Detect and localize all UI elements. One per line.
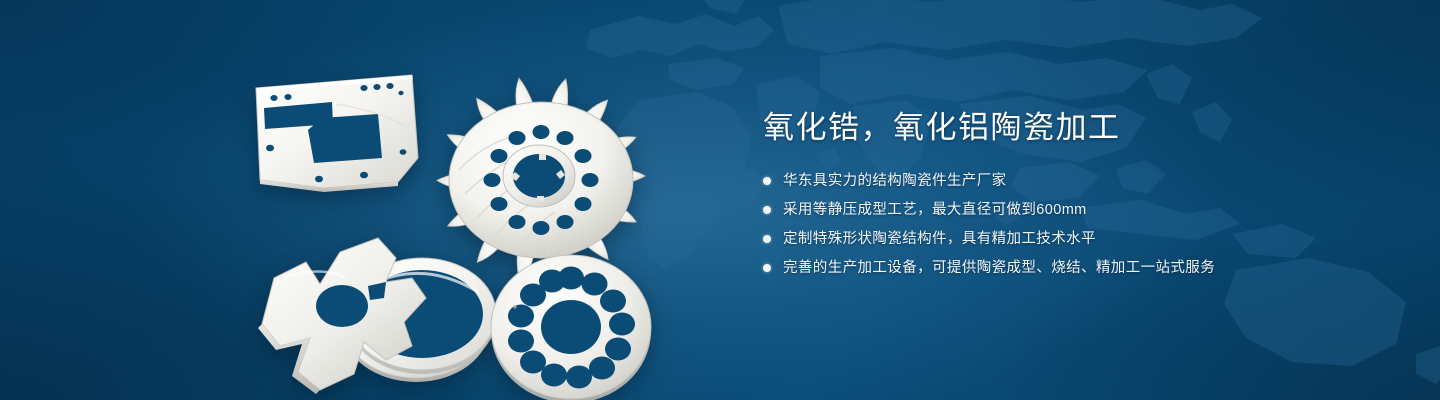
feature-item: 完善的生产加工设备，可提供陶瓷成型、烧结、精加工一站式服务 bbox=[763, 257, 1323, 279]
feature-text: 定制特殊形状陶瓷结构件，具有精加工技术水平 bbox=[783, 228, 1096, 250]
feature-text: 采用等静压成型工艺，最大直径可做到600mm bbox=[783, 199, 1087, 221]
bullet-dot-icon bbox=[763, 177, 771, 185]
bullet-dot-icon bbox=[763, 264, 771, 272]
bullet-dot-icon bbox=[763, 206, 771, 214]
banner-copy: 氧化锆，氧化铝陶瓷加工 华东具实力的结构陶瓷件生产厂家 采用等静压成型工艺，最大… bbox=[763, 108, 1323, 279]
feature-text: 完善的生产加工设备，可提供陶瓷成型、烧结、精加工一站式服务 bbox=[783, 257, 1215, 279]
feature-item: 华东具实力的结构陶瓷件生产厂家 bbox=[763, 170, 1323, 192]
feature-item: 定制特殊形状陶瓷结构件，具有精加工技术水平 bbox=[763, 228, 1323, 250]
hero-banner: 氧化锆，氧化铝陶瓷加工 华东具实力的结构陶瓷件生产厂家 采用等静压成型工艺，最大… bbox=[0, 0, 1440, 400]
product-ceramic-impeller bbox=[437, 76, 645, 283]
bullet-dot-icon bbox=[763, 235, 771, 243]
banner-headline: 氧化锆，氧化铝陶瓷加工 bbox=[763, 108, 1323, 148]
product-ceramic-hole-disc bbox=[491, 255, 651, 400]
product-image-cluster bbox=[236, 30, 736, 400]
feature-text: 华东具实力的结构陶瓷件生产厂家 bbox=[783, 170, 1007, 192]
banner-feature-list: 华东具实力的结构陶瓷件生产厂家 采用等静压成型工艺，最大直径可做到600mm 定… bbox=[763, 170, 1323, 279]
product-ceramic-flat-plate bbox=[256, 75, 418, 192]
feature-item: 采用等静压成型工艺，最大直径可做到600mm bbox=[763, 199, 1323, 221]
